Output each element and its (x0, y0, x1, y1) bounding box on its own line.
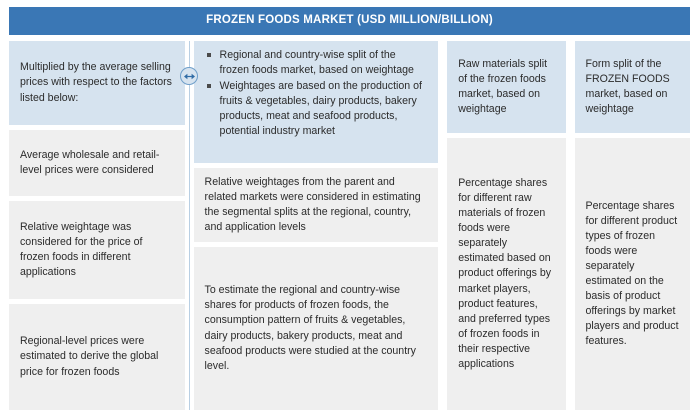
columns-container: Multiplied by the average selling prices… (9, 41, 690, 410)
card-text: Percentage shares for different raw mate… (458, 176, 554, 371)
regional-split-column: Regional and country-wise split of the f… (194, 41, 439, 410)
card-avg-wholesale-retail-prices: Average wholesale and retail-level price… (9, 130, 185, 196)
card-text: Raw materials split of the frozen foods … (458, 57, 554, 117)
column-spacer (438, 41, 447, 410)
card-text: Relative weightages from the parent and … (205, 175, 428, 235)
card-text: Form split of the FROZEN FOODS market, b… (586, 57, 679, 117)
page-title: FROZEN FOODS MARKET (USD MILLION/BILLION… (206, 15, 493, 27)
card-regional-country-split-bullets: Regional and country-wise split of the f… (194, 41, 439, 163)
list-item: Weightages are based on the production o… (218, 79, 428, 139)
column-connector (185, 41, 194, 410)
list-item: Regional and country-wise split of the f… (218, 48, 428, 78)
card-text: Average wholesale and retail-level price… (20, 148, 174, 178)
card-regional-level-prices: Regional-level prices were estimated to … (9, 304, 185, 410)
card-percentage-shares-product-types: Percentage shares for different product … (575, 138, 690, 410)
card-relative-weightages-parent-markets: Relative weightages from the parent and … (194, 168, 439, 242)
raw-materials-split-column: Raw materials split of the frozen foods … (447, 41, 565, 410)
card-text: To estimate the regional and country-wis… (205, 283, 428, 373)
card-text: Relative weightage was considered for th… (20, 220, 174, 280)
card-text: Multiplied by the average selling prices… (20, 60, 174, 105)
infographic-root: FROZEN FOODS MARKET (USD MILLION/BILLION… (0, 0, 699, 417)
card-relative-weightage-price: Relative weightage was considered for th… (9, 201, 185, 299)
card-text: Percentage shares for different product … (586, 199, 679, 349)
card-form-split: Form split of the FROZEN FOODS market, b… (575, 41, 690, 133)
form-split-column: Form split of the FROZEN FOODS market, b… (575, 41, 690, 410)
pricing-factors-column: Multiplied by the average selling prices… (9, 41, 185, 410)
card-raw-materials-split: Raw materials split of the frozen foods … (447, 41, 565, 133)
card-percentage-shares-raw-materials: Percentage shares for different raw mate… (447, 138, 565, 410)
header-banner: FROZEN FOODS MARKET (USD MILLION/BILLION… (9, 7, 690, 35)
connector-vertical-line (189, 41, 190, 410)
column-spacer (566, 41, 575, 410)
card-estimate-regional-country-shares: To estimate the regional and country-wis… (194, 247, 439, 410)
card-text: Regional-level prices were estimated to … (20, 334, 174, 379)
bullet-list: Regional and country-wise split of the f… (205, 48, 428, 139)
card-multiplied-avg-selling-prices: Multiplied by the average selling prices… (9, 41, 185, 125)
